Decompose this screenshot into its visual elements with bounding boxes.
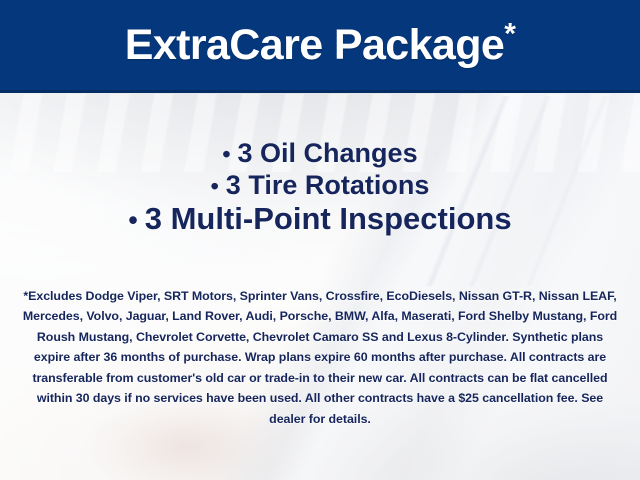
bullet-dot-icon: • [222,143,230,166]
bullet-dot-icon: • [128,207,137,234]
bullet-dot-icon: • [211,175,219,198]
benefits-list: •3 Oil Changes •3 Tire Rotations •3 Mult… [0,138,640,237]
page-title: ExtraCare Package* [125,24,516,67]
extracare-package-ad: ExtraCare Package* •3 Oil Changes •3 Tir… [0,0,640,480]
header-banner: ExtraCare Package* [0,0,640,93]
list-item: •3 Multi-Point Inspections [0,201,640,237]
list-item: •3 Tire Rotations [0,170,640,202]
list-item: •3 Oil Changes [0,138,640,170]
page-title-text: ExtraCare Package [125,21,504,69]
benefit-label: 3 Oil Changes [238,138,418,168]
benefit-label: 3 Multi-Point Inspections [145,201,512,236]
benefit-label: 3 Tire Rotations [226,170,430,200]
title-asterisk: * [504,17,515,50]
disclaimer-text: *Excludes Dodge Viper, SRT Motors, Sprin… [18,286,622,429]
